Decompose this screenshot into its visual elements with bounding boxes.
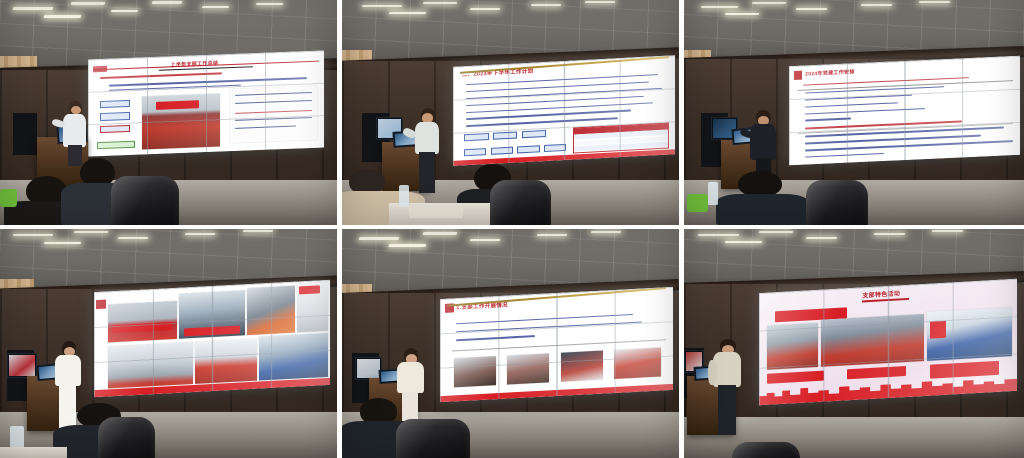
presenter-torso bbox=[55, 355, 81, 386]
ceiling-light bbox=[861, 4, 892, 6]
slide-content bbox=[94, 280, 330, 398]
slide-title-marker bbox=[794, 70, 802, 79]
chair-highlight bbox=[490, 180, 551, 225]
slide-chart bbox=[229, 86, 316, 144]
ceiling-light bbox=[151, 1, 182, 4]
flag-graphic bbox=[930, 321, 945, 339]
photo-caption-banner bbox=[929, 361, 999, 379]
ceiling-light bbox=[74, 231, 108, 233]
slide-bullet bbox=[806, 94, 912, 100]
flow-box bbox=[99, 100, 130, 109]
chair-highlight bbox=[806, 180, 867, 225]
ceiling-light bbox=[423, 232, 457, 235]
ceiling-light bbox=[806, 237, 837, 239]
conference-table bbox=[0, 447, 67, 458]
ceiling-light bbox=[389, 244, 427, 247]
flow-box bbox=[97, 141, 135, 149]
photo-caption-banner bbox=[185, 326, 240, 337]
ceiling-light bbox=[530, 4, 561, 6]
chart-line bbox=[234, 110, 311, 114]
schedule-table bbox=[573, 123, 669, 154]
slide-photo bbox=[454, 356, 496, 387]
slide-title: 2024年党建工作安排 bbox=[806, 68, 855, 77]
photo-caption-banner bbox=[113, 322, 173, 333]
photo-collage-grid: 上半年支部工作总结 上半年支部工作总结 bbox=[0, 0, 1024, 458]
slide-corner-mark bbox=[97, 300, 106, 309]
green-bag bbox=[687, 194, 707, 212]
ceiling-light bbox=[202, 6, 230, 8]
ceiling-light bbox=[724, 13, 759, 15]
slide-photo bbox=[614, 347, 661, 378]
conference-chair bbox=[490, 180, 551, 225]
slide-photo bbox=[142, 93, 220, 149]
collage-photo bbox=[109, 301, 177, 342]
chart-line bbox=[234, 125, 295, 128]
presenter bbox=[57, 101, 94, 164]
conference-chair bbox=[806, 180, 867, 225]
ceiling-light bbox=[537, 234, 568, 236]
ceiling-light bbox=[256, 3, 284, 5]
led-video-wall: 1.支部工作开展情况 bbox=[440, 287, 673, 402]
photo-flag-mark bbox=[299, 286, 320, 295]
collage-photo-6: 支部特色活动 支部特色活动 bbox=[684, 229, 1024, 458]
ceiling-light bbox=[591, 231, 622, 233]
slide-photo bbox=[507, 353, 549, 384]
collage-photo bbox=[821, 315, 924, 368]
audience-shoulders bbox=[716, 194, 809, 225]
plan-box bbox=[544, 144, 566, 152]
presenter bbox=[708, 339, 749, 435]
photo-caption-banner bbox=[847, 366, 906, 379]
collage-photo bbox=[248, 286, 295, 335]
side-monitor bbox=[13, 113, 37, 156]
collage-photo-3: 2024年党建工作安排 2024年党建工作安排 bbox=[684, 0, 1024, 225]
slide-content: 二、2024年下半年工作计划 bbox=[453, 55, 675, 166]
ceiling-light bbox=[584, 1, 615, 3]
collage-photo-4: photo-collage bbox=[0, 229, 337, 458]
slide-bullet bbox=[806, 107, 926, 114]
conference-chair bbox=[111, 176, 178, 226]
collage-photo bbox=[927, 307, 1012, 361]
collage-photo bbox=[259, 333, 327, 381]
led-video-wall: 支部特色活动 bbox=[759, 279, 1017, 406]
led-video-wall bbox=[94, 280, 330, 398]
green-bag bbox=[0, 189, 17, 207]
led-video-wall: 二、2024年下半年工作计划 bbox=[453, 55, 675, 166]
slide-content: 上半年支部工作总结 bbox=[88, 51, 324, 157]
audience-member bbox=[725, 171, 800, 225]
plan-box bbox=[522, 130, 546, 138]
monitor-screen bbox=[9, 355, 35, 376]
presenter-legs bbox=[718, 385, 735, 435]
collage-photo bbox=[179, 291, 245, 339]
ceiling-light bbox=[70, 2, 104, 5]
chart-line bbox=[234, 100, 311, 104]
plan-box bbox=[464, 148, 486, 156]
slide-content: 1.支部工作开展情况 bbox=[440, 287, 673, 402]
photo-banner bbox=[156, 100, 199, 109]
collage-photo bbox=[767, 323, 819, 371]
plan-box bbox=[518, 145, 540, 153]
ceiling-light bbox=[470, 8, 501, 10]
chair-highlight bbox=[111, 176, 178, 226]
ceiling-light bbox=[932, 230, 963, 232]
led-video-wall: 上半年支部工作总结 bbox=[88, 51, 324, 157]
chair-highlight bbox=[732, 442, 800, 458]
led-video-wall: 2024年党建工作安排 bbox=[789, 56, 1020, 165]
ceiling-light bbox=[185, 233, 216, 235]
presenter-torso bbox=[415, 122, 439, 154]
slide-body-line bbox=[109, 85, 241, 91]
chair-highlight bbox=[396, 419, 470, 458]
collage-photo-1: 上半年支部工作总结 上半年支部工作总结 bbox=[0, 0, 337, 225]
slide-bullet bbox=[803, 77, 969, 86]
slide-content: 2024年党建工作安排 bbox=[789, 56, 1020, 165]
chair-highlight bbox=[98, 417, 155, 458]
presenter-torso bbox=[750, 124, 776, 160]
presenter-torso bbox=[397, 362, 424, 393]
slide-list-line bbox=[456, 335, 535, 341]
ceiling-light bbox=[470, 239, 501, 241]
presenter-torso bbox=[63, 114, 86, 147]
presenter-legs bbox=[419, 152, 435, 193]
presenter-arm bbox=[708, 360, 717, 385]
conference-chair bbox=[732, 442, 800, 458]
ceiling-light bbox=[796, 8, 827, 10]
wall-monitor bbox=[7, 353, 37, 378]
ceiling-light bbox=[874, 233, 905, 235]
chart-line bbox=[234, 117, 311, 121]
chart-line bbox=[234, 92, 311, 96]
flow-box bbox=[99, 125, 130, 134]
slide-list-line bbox=[456, 322, 642, 333]
slide-content: 支部特色活动 bbox=[759, 279, 1017, 406]
collage-photo bbox=[109, 342, 194, 389]
slide-bullet bbox=[806, 118, 852, 121]
collage-photo bbox=[297, 282, 328, 332]
ceiling-light bbox=[13, 7, 54, 10]
ceiling-light bbox=[724, 241, 762, 243]
presenter-torso bbox=[713, 352, 742, 387]
conference-chair bbox=[98, 417, 155, 458]
plan-box bbox=[491, 147, 513, 155]
collage-photo bbox=[196, 339, 257, 384]
plan-box bbox=[464, 133, 488, 141]
water-bottle bbox=[708, 182, 718, 205]
ceiling-light bbox=[423, 2, 457, 4]
collage-photo-5: 1.支部工作开展情况 1.支部工作开展情况 bbox=[342, 229, 679, 458]
slide-bullet-highlight bbox=[806, 120, 963, 129]
ceiling-light bbox=[701, 6, 739, 8]
ceiling-light bbox=[43, 15, 81, 18]
ceiling-light bbox=[242, 230, 273, 232]
ceiling-light bbox=[43, 242, 81, 244]
ceiling-light bbox=[358, 237, 399, 240]
slide-photo bbox=[561, 350, 603, 381]
collage-photo-2: 二、2024年下半年工作计划 二、2024年下半年工作计划 bbox=[342, 0, 679, 225]
photo-caption-banner bbox=[767, 371, 824, 384]
flow-box bbox=[99, 112, 130, 121]
plan-box bbox=[493, 131, 517, 139]
monitor-screen bbox=[357, 359, 380, 378]
water-bottle bbox=[399, 185, 409, 208]
notebook bbox=[409, 207, 463, 218]
slide-subtitle bbox=[99, 73, 222, 80]
ceiling-light bbox=[918, 1, 949, 3]
slide-bullet bbox=[806, 102, 898, 108]
slide-bullet bbox=[806, 153, 885, 158]
conference-chair bbox=[396, 419, 470, 458]
